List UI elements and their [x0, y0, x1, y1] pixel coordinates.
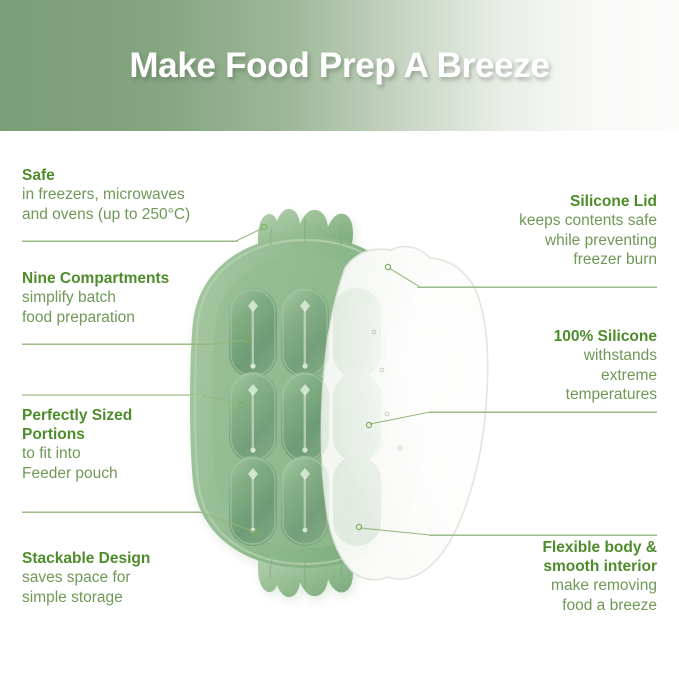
divider-left-4: [22, 512, 202, 513]
callout-silicone-lid: Silicone Lid keeps contents safe while p…: [519, 192, 657, 270]
callout-100-silicone-title: 100% Silicone: [554, 327, 657, 346]
callout-100-silicone: 100% Silicone withstands extreme tempera…: [554, 327, 657, 405]
tray-compartment: [229, 288, 277, 378]
callout-silicone-lid-body: keeps contents safe while preventing fre…: [519, 211, 657, 270]
leader-portions: [22, 395, 240, 404]
header-banner: Make Food Prep A Breeze: [0, 0, 679, 131]
tray-compartment: [333, 456, 381, 546]
callout-perfectly-sized-portions: Perfectly Sized Portions to fit into Fee…: [22, 406, 132, 483]
leader-endpoints: [238, 224, 390, 535]
callout-flexible-body: Flexible body & smooth interior make rem…: [542, 538, 657, 615]
callout-stackable-design: Stackable Design saves space for simple …: [22, 549, 150, 607]
tray-compartment: [281, 288, 329, 378]
callout-nine-compartments-body: simplify batch food preparation: [22, 288, 169, 327]
callout-safe: Safe in freezers, microwaves and ovens (…: [22, 166, 190, 224]
callout-100-silicone-body: withstands extreme temperatures: [554, 346, 657, 405]
callout-nine-compartments-title: Nine Compartments: [22, 269, 169, 288]
divider-right-3: [429, 535, 657, 536]
lid-group: [281, 247, 488, 580]
divider-left-2: [22, 344, 214, 345]
callout-silicone-lid-title: Silicone Lid: [519, 192, 657, 211]
divider-left-1: [22, 241, 238, 242]
callout-stackable-design-body: saves space for simple storage: [22, 568, 150, 607]
callout-perfectly-sized-portions-title: Perfectly Sized Portions: [22, 406, 132, 444]
leader-safe: [22, 228, 263, 241]
tray-compartment: [333, 288, 381, 378]
tray-compartment: [281, 456, 329, 546]
tray-group: [190, 209, 420, 597]
callout-safe-body: in freezers, microwaves and ovens (up to…: [22, 185, 190, 224]
tray-compartment: [281, 372, 329, 462]
callout-stackable-design-title: Stackable Design: [22, 549, 150, 568]
page-title: Make Food Prep A Breeze: [0, 0, 679, 131]
leader-stackable: [22, 512, 255, 532]
leader-100-silicone: [370, 412, 657, 424]
callout-flexible-body-title: Flexible body & smooth interior: [542, 538, 657, 576]
tray-compartment: [229, 372, 277, 462]
callout-safe-title: Safe: [22, 166, 190, 185]
divider-right-2: [429, 412, 657, 413]
divider-right-1: [417, 287, 657, 288]
callout-flexible-body-body: make removing food a breeze: [542, 576, 657, 615]
tray-compartment: [229, 456, 277, 546]
callout-perfectly-sized-portions-body: to fit into Feeder pouch: [22, 444, 132, 483]
callout-nine-compartments: Nine Compartments simplify batch food pr…: [22, 269, 169, 327]
leader-flexible-body: [360, 528, 657, 535]
tray-compartment: [333, 372, 381, 462]
infographic-canvas: Make Food Prep A Breeze: [0, 0, 679, 679]
leader-silicone-lid: [389, 268, 657, 287]
divider-left-3: [22, 395, 202, 396]
